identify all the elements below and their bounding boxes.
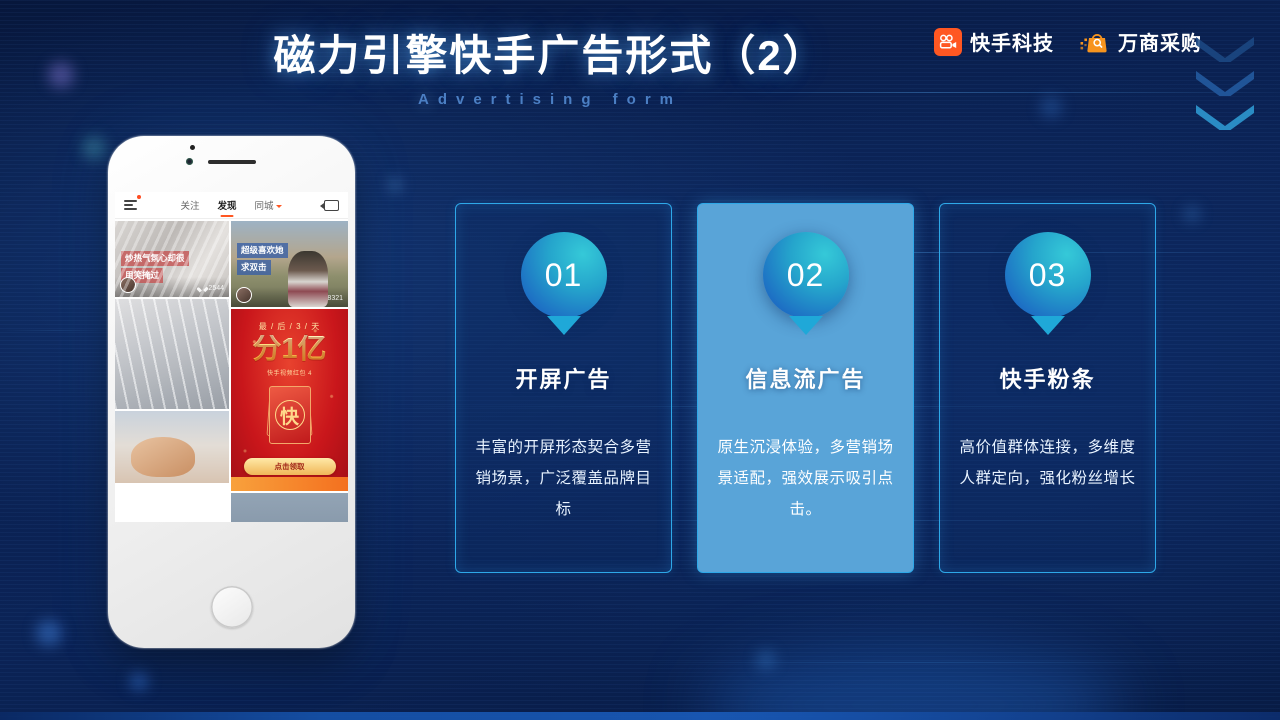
promo-cta-button[interactable]: 点击领取 — [244, 458, 336, 475]
card-body: 丰富的开屏形态契合多营销场景，广泛覆盖品牌目标 — [474, 432, 653, 525]
page-subtitle: Advertising form — [0, 91, 1280, 108]
sensor-dot — [190, 145, 195, 150]
avatar[interactable] — [120, 277, 136, 293]
hamburger-menu-icon[interactable] — [124, 197, 138, 212]
feed-item-shade — [115, 277, 229, 297]
badge-wrapper-3: 03 — [1005, 232, 1091, 335]
promo-card-center: 快 — [269, 386, 311, 444]
logo-kuaishou-technology: 快手科技 — [934, 27, 1054, 56]
badge-pointer — [547, 316, 581, 335]
promo-ad-card[interactable]: 最 / 后 / 3 / 天 分1亿 快手视频红包 4 祝 乐 快 点击领取 — [231, 309, 348, 491]
kuaishou-camera-icon — [934, 28, 962, 56]
like-count: 8321 — [318, 295, 343, 302]
chevron-down-icon-active — [1194, 102, 1256, 130]
tab-nearby[interactable]: 同城 — [255, 198, 282, 212]
avatar[interactable] — [236, 287, 252, 303]
badge-pointer — [789, 316, 823, 335]
promo-eyebrow: 最 / 后 / 3 / 天 — [231, 309, 348, 332]
badge-pointer — [1031, 316, 1065, 335]
bokeh-dot — [1184, 206, 1200, 222]
card-number-badge: 01 — [521, 232, 607, 318]
promo-card-stack: 祝 乐 快 — [231, 384, 348, 446]
app-nav-tabs: 关注 发现 同城 — [138, 198, 324, 212]
app-feed: 炒热气氛心却很 用笑掩过 2544 超级喜欢她 求双击 8321 — [115, 219, 348, 522]
header: 磁力引擎快手广告形式（2） Advertising form 快手科技 — [0, 0, 1280, 130]
chevron-down-icon — [1194, 68, 1256, 96]
feed-item-caption: 用笑掩过 — [121, 268, 163, 283]
chevron-down-icon — [1194, 34, 1256, 62]
phone-speaker — [208, 160, 256, 164]
like-count: 2544 — [199, 285, 224, 292]
feature-cards: 01 开屏广告 丰富的开屏形态契合多营销场景，广泛覆盖品牌目标 02 信息流广告… — [455, 203, 1156, 573]
feature-card-2[interactable]: 02 信息流广告 原生沉浸体验，多营销场景适配，强效展示吸引点击。 — [697, 203, 914, 573]
feed-item-caption: 求双击 — [237, 260, 271, 275]
phone-home-button[interactable] — [211, 586, 253, 628]
bottom-accent-strip — [0, 712, 1280, 720]
card-title: 信息流广告 — [698, 362, 913, 394]
promo-headline: 分1亿 — [231, 335, 348, 364]
feed-item-post-4[interactable] — [115, 411, 229, 483]
heart-icon — [318, 295, 325, 302]
card-title: 快手粉条 — [940, 362, 1155, 394]
feed-item-post-3[interactable] — [115, 299, 229, 409]
card-number-badge: 02 — [763, 232, 849, 318]
card-title: 开屏广告 — [456, 362, 671, 394]
tab-discover[interactable]: 发现 — [217, 198, 236, 212]
logo-wanshang-caigou: 万商采购 — [1080, 27, 1202, 56]
phone-screen: 关注 发现 同城 炒热气氛心却很 用笑掩过 2544 — [115, 192, 348, 522]
card-body: 原生沉浸体验，多营销场景适配，强效展示吸引点击。 — [716, 432, 895, 525]
chevron-down-icon — [276, 205, 282, 208]
card-number-badge: 03 — [1005, 232, 1091, 318]
logo-group: 快手科技 万商采购 — [934, 27, 1202, 56]
feed-column-left: 炒热气氛心却很 用笑掩过 2544 — [115, 221, 229, 522]
heart-icon — [199, 285, 206, 292]
logo-kuaishou-label: 快手科技 — [970, 27, 1054, 56]
promo-footer-bar — [231, 477, 348, 491]
logo-wanshang-label: 万商采购 — [1118, 27, 1202, 56]
feed-item-post-2[interactable]: 超级喜欢她 求双击 8321 — [231, 221, 348, 307]
feed-column-right: 超级喜欢她 求双击 8321 最 / 后 / 3 / 天 分1亿 快手视频红包 … — [231, 221, 348, 522]
shopping-bag-icon — [1080, 28, 1110, 56]
bokeh-dot — [36, 620, 62, 646]
deco-line — [0, 330, 120, 331]
feature-card-3[interactable]: 03 快手粉条 高价值群体连接，多维度人群定向，强化粉丝增长 — [939, 203, 1156, 573]
feed-item-caption: 超级喜欢她 — [237, 243, 288, 258]
feed-item-caption: 炒热气氛心却很 — [121, 251, 189, 266]
phone-mockup: 关注 发现 同城 炒热气氛心却很 用笑掩过 2544 — [108, 136, 355, 648]
tab-follow[interactable]: 关注 — [180, 198, 199, 212]
feature-card-1[interactable]: 01 开屏广告 丰富的开屏形态契合多营销场景，广泛覆盖品牌目标 — [455, 203, 672, 573]
chevron-down-group — [1194, 34, 1256, 136]
app-nav-bar: 关注 发现 同城 — [115, 192, 348, 219]
phone-front-camera — [186, 158, 193, 165]
badge-wrapper-1: 01 — [521, 232, 607, 335]
bokeh-dot — [82, 136, 106, 160]
video-camera-icon[interactable] — [324, 200, 339, 211]
badge-wrapper-2: 02 — [763, 232, 849, 335]
feed-item-post-1[interactable]: 炒热气氛心却很 用笑掩过 2544 — [115, 221, 229, 297]
feed-item-post-5[interactable] — [231, 493, 348, 522]
card-body: 高价值群体连接，多维度人群定向，强化粉丝增长 — [958, 432, 1137, 494]
bokeh-dot — [388, 178, 402, 192]
promo-subline: 快手视频红包 4 — [231, 368, 348, 377]
bokeh-dot — [130, 672, 148, 690]
